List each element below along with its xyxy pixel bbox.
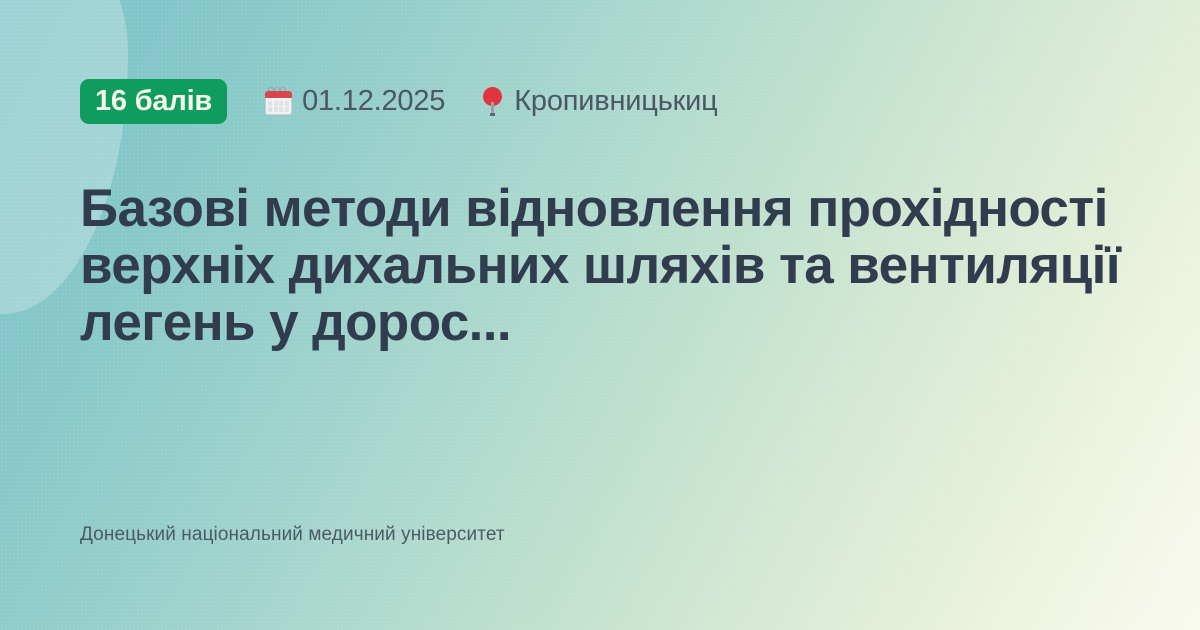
calendar-icon xyxy=(265,87,292,115)
date-meta: 01.12.2025 xyxy=(265,85,445,118)
map-pin-tip xyxy=(490,113,495,116)
page-title: Базові методи відновлення прохідності ве… xyxy=(80,180,1135,351)
calendar-grid xyxy=(268,101,289,112)
course-promo-card: 16 балів 01.12.2025 Кропивницькиц xyxy=(0,0,1200,630)
location-text: Кропивницькиц xyxy=(514,85,717,118)
points-badge: 16 балів xyxy=(80,79,227,124)
organization-name: Донецький національний медичний універси… xyxy=(80,524,505,546)
date-text: 01.12.2025 xyxy=(302,85,445,118)
card-content: 16 балів 01.12.2025 Кропивницькиц xyxy=(80,0,1140,630)
meta-row: 16 балів 01.12.2025 Кропивницькиц xyxy=(80,78,718,124)
map-pin-icon xyxy=(483,87,503,116)
calendar-header-bar xyxy=(265,91,292,98)
location-meta: Кропивницькиц xyxy=(483,85,717,118)
